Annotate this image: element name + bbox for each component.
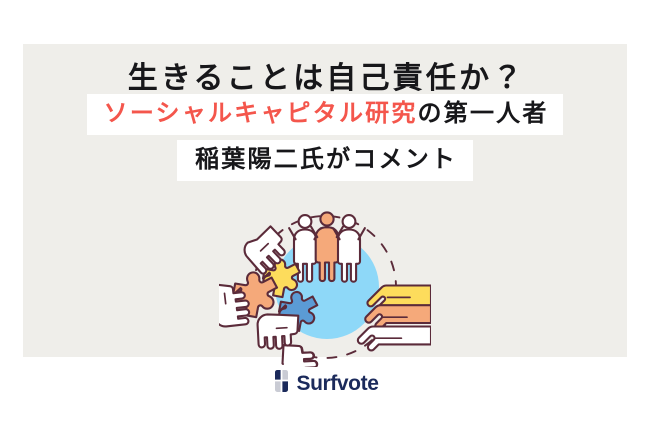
headline-line-2-wrapper: ソーシャルキャピタル研究の第一人者 [23, 94, 627, 135]
headline-line-2-rest: の第一人者 [418, 100, 549, 127]
page-canvas: 生きることは自己責任か？ ソーシャルキャピタル研究の第一人者 稲葉陽二氏がコメン… [0, 0, 650, 434]
social-capital-teamwork-illustration: .st { fill:none; stroke:#5b2b3a; stroke-… [219, 207, 431, 367]
headline-block: 生きることは自己責任か？ ソーシャルキャピタル研究の第一人者 稲葉陽二氏がコメン… [23, 58, 627, 181]
headline-line-1: 生きることは自己責任か？ [23, 58, 627, 94]
article-thumbnail-card: 生きることは自己責任か？ ソーシャルキャピタル研究の第一人者 稲葉陽二氏がコメン… [23, 44, 627, 357]
headline-line-2-highlight: ソーシャルキャピタル研究 [104, 100, 418, 127]
surfvote-wordmark: Surfvote [297, 373, 379, 394]
surfvote-logo-mark [272, 369, 291, 398]
headline-line-3-wrapper: 稲葉陽二氏がコメント [23, 140, 627, 181]
footer-logo-area: Surfvote [0, 363, 650, 403]
headline-line-2: ソーシャルキャピタル研究の第一人者 [87, 94, 562, 135]
surfvote-logo[interactable]: Surfvote [272, 369, 379, 398]
headline-line-3: 稲葉陽二氏がコメント [177, 140, 473, 181]
